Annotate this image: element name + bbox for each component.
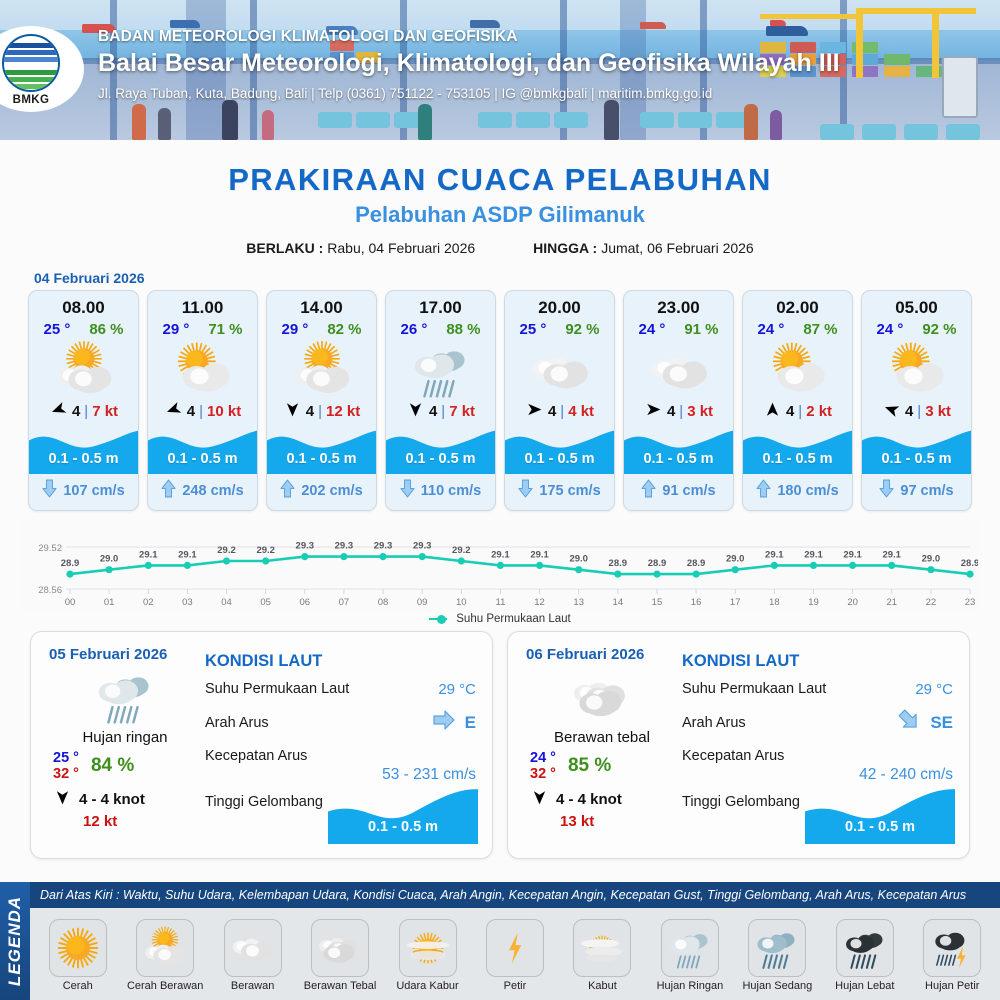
- card-current-speed: 97 cm/s: [900, 483, 953, 499]
- svg-text:28.9: 28.9: [648, 558, 667, 569]
- weather-cerah-berawan-single-icon: [148, 340, 257, 400]
- legend-item: Berawan Tebal: [296, 919, 383, 992]
- card-current: 180 cm/s: [743, 474, 852, 510]
- weather-kabut-icon: [573, 919, 631, 977]
- wind-direction-arrow-icon: [53, 790, 72, 809]
- svg-text:19: 19: [808, 597, 819, 608]
- weather-cerah-berawan-icon: [136, 919, 194, 977]
- svg-text:04: 04: [221, 597, 232, 608]
- page-subtitle: Pelabuhan ASDP Gilimanuk: [0, 202, 1000, 228]
- card-wind: 4 | 12 kt: [267, 400, 376, 426]
- card-wind-speed: 4: [72, 403, 80, 420]
- svg-text:17: 17: [730, 597, 741, 608]
- card-wind: 4 | 2 kt: [743, 400, 852, 426]
- sea-current-dir-value: SE: [895, 708, 953, 737]
- legend-item-label: Hujan Sedang: [742, 980, 812, 992]
- sea-current-dir-label: Arah Arus: [682, 715, 746, 731]
- legend-item: Cerah: [34, 919, 121, 992]
- legend-items-row: Cerah Cerah Berawan Berawan Berawan Teba…: [30, 908, 1000, 1000]
- weather-berawan-icon: [624, 340, 733, 400]
- panel-gust: 13 kt: [526, 813, 678, 830]
- wind-separator: |: [560, 403, 564, 420]
- weather-hujan-ringan-icon: [49, 665, 201, 727]
- legend-item: Hujan Lebat: [821, 919, 908, 992]
- card-wave: 0.1 - 0.5 m: [148, 426, 257, 474]
- legend-item-label: Cerah Berawan: [127, 980, 203, 992]
- svg-text:29.2: 29.2: [217, 545, 236, 556]
- wind-direction-arrow-icon: [763, 402, 782, 421]
- panel-wind-range: 4 - 4 knot: [79, 791, 145, 808]
- card-wave: 0.1 - 0.5 m: [386, 426, 495, 474]
- svg-text:13: 13: [573, 597, 584, 608]
- card-gust: 7 kt: [92, 403, 118, 420]
- sea-current-speed-value: 42 - 240 cm/s: [682, 766, 953, 784]
- card-values: 24 ° 87 %: [743, 320, 852, 340]
- sea-sst-row: Suhu Permukaan Laut 29 °C: [205, 679, 476, 699]
- valid-to-value: Jumat, 06 Februari 2026: [601, 240, 754, 256]
- wind-separator: |: [441, 403, 445, 420]
- hourly-card: 02.00 24 ° 87 % 4 | 2 kt 0.1 - 0.5 m 180…: [742, 290, 853, 511]
- card-values: 24 ° 91 %: [624, 320, 733, 340]
- card-time: 20.00: [505, 291, 614, 320]
- daily-forecast-panel: 06 Februari 2026 Berawan tebal 24 ° 32 °…: [507, 631, 970, 859]
- sea-sst-label: Suhu Permukaan Laut: [205, 681, 349, 697]
- svg-text:20: 20: [847, 597, 858, 608]
- banner-contact-line: Jl. Raya Tuban, Kuta, Badung, Bali | Tel…: [98, 86, 840, 101]
- sea-sst-row: Suhu Permukaan Laut 29 °C: [682, 679, 953, 699]
- card-wave-height: 0.1 - 0.5 m: [29, 451, 138, 467]
- sea-wave-graphic: 0.1 - 0.5 m: [805, 788, 955, 844]
- card-current: 107 cm/s: [29, 474, 138, 510]
- weather-hujan-ringan-icon: [661, 919, 719, 977]
- banner-office-name: Balai Besar Meteorologi, Klimatologi, da…: [98, 49, 840, 78]
- card-current: 91 cm/s: [624, 474, 733, 510]
- svg-text:22: 22: [926, 597, 937, 608]
- card-temperature: 25 °: [43, 321, 70, 338]
- panel-temps: 25 ° 32 ° 84 %: [49, 750, 201, 782]
- sea-current-dir-label: Arah Arus: [205, 715, 269, 731]
- hourly-card: 14.00 29 ° 82 % 4 | 12 kt 0.1 - 0.5 m 20…: [266, 290, 377, 511]
- card-current-speed: 248 cm/s: [182, 483, 243, 499]
- wind-separator: |: [84, 403, 88, 420]
- card-current: 248 cm/s: [148, 474, 257, 510]
- card-time: 02.00: [743, 291, 852, 320]
- legend-item-label: Hujan Petir: [925, 980, 979, 992]
- svg-text:29.1: 29.1: [765, 549, 784, 560]
- card-wave-height: 0.1 - 0.5 m: [386, 451, 495, 467]
- weather-hujan-petir-icon: [923, 919, 981, 977]
- card-time: 17.00: [386, 291, 495, 320]
- card-time: 08.00: [29, 291, 138, 320]
- card-time: 23.00: [624, 291, 733, 320]
- current-direction-arrow-icon: [518, 479, 533, 502]
- svg-text:28.9: 28.9: [609, 558, 628, 569]
- svg-text:12: 12: [534, 597, 545, 608]
- sea-sst-label: Suhu Permukaan Laut: [682, 681, 826, 697]
- validity-row: BERLAKU :Rabu, 04 Februari 2026 HINGGA :…: [0, 240, 1000, 256]
- page-title: PRAKIRAAN CUACA PELABUHAN: [0, 162, 1000, 198]
- weather-cerah-berawan-icon: [267, 340, 376, 400]
- card-humidity: 88 %: [446, 321, 480, 338]
- legend-line-icon: [429, 618, 447, 621]
- svg-text:09: 09: [417, 597, 428, 608]
- card-temperature: 24 °: [638, 321, 665, 338]
- svg-text:11: 11: [495, 597, 505, 608]
- panel-wind-range: 4 - 4 knot: [556, 791, 622, 808]
- legend-item: Hujan Ringan: [646, 919, 733, 992]
- card-current-speed: 110 cm/s: [421, 483, 481, 499]
- svg-text:29.0: 29.0: [922, 554, 941, 565]
- panel-temp-min: 25 °: [53, 750, 79, 766]
- legend-item-label: Hujan Lebat: [835, 980, 894, 992]
- card-humidity: 91 %: [684, 321, 718, 338]
- wind-separator: |: [199, 403, 203, 420]
- banner-org-line: BADAN METEOROLOGI KLIMATOLOGI DAN GEOFIS…: [98, 28, 840, 46]
- weather-berawan-icon: [505, 340, 614, 400]
- svg-text:00: 00: [65, 597, 76, 608]
- legend-note: Dari Atas Kiri : Waktu, Suhu Udara, Kele…: [30, 882, 1000, 908]
- sea-current-speed-row: Kecepatan Arus: [205, 746, 476, 766]
- svg-text:07: 07: [339, 597, 350, 608]
- svg-text:23: 23: [965, 597, 976, 608]
- svg-text:29.1: 29.1: [178, 549, 197, 560]
- svg-text:21: 21: [886, 597, 897, 608]
- weather-berawan-tebal-icon: [311, 919, 369, 977]
- legend-item-label: Hujan Ringan: [657, 980, 724, 992]
- wind-direction-arrow-icon: [882, 402, 901, 421]
- svg-text:05: 05: [260, 597, 271, 608]
- panel-temps: 24 ° 32 ° 85 %: [526, 750, 678, 782]
- svg-text:16: 16: [691, 597, 702, 608]
- legend-item-label: Cerah: [63, 980, 93, 992]
- panel-wind: 4 - 4 knot: [526, 790, 678, 809]
- card-current: 202 cm/s: [267, 474, 376, 510]
- card-current: 110 cm/s: [386, 474, 495, 510]
- svg-text:29.1: 29.1: [804, 549, 823, 560]
- legend-label: Suhu Permukaan Laut: [456, 613, 570, 625]
- card-wind-speed: 4: [429, 403, 437, 420]
- legend-item: Kabut: [559, 919, 646, 992]
- card-humidity: 92 %: [565, 321, 599, 338]
- svg-text:29.0: 29.0: [726, 554, 745, 565]
- card-wind-speed: 4: [187, 403, 195, 420]
- card-wave: 0.1 - 0.5 m: [862, 426, 971, 474]
- card-wind-speed: 4: [786, 403, 794, 420]
- card-wave: 0.1 - 0.5 m: [29, 426, 138, 474]
- weather-cerah-berawan-single-icon: [862, 340, 971, 400]
- svg-text:29.1: 29.1: [491, 549, 510, 560]
- svg-text:29.2: 29.2: [256, 545, 275, 556]
- daily-forecast-row: 05 Februari 2026 Hujan ringan 25 ° 32 ° …: [0, 625, 1000, 859]
- legend-item: Cerah Berawan: [121, 919, 208, 992]
- weather-hujan-sedang-icon: [748, 919, 806, 977]
- weather-cerah-icon: [49, 919, 107, 977]
- wind-direction-arrow-icon: [530, 790, 549, 809]
- panel-wind: 4 - 4 knot: [49, 790, 201, 809]
- card-values: 24 ° 92 %: [862, 320, 971, 340]
- svg-text:29.52: 29.52: [38, 543, 62, 554]
- hourly-card: 20.00 25 ° 92 % 4 | 4 kt 0.1 - 0.5 m 175…: [504, 290, 615, 511]
- svg-text:29.3: 29.3: [413, 541, 432, 552]
- svg-text:14: 14: [613, 597, 624, 608]
- card-humidity: 87 %: [803, 321, 837, 338]
- current-direction-arrow-icon: [756, 479, 771, 502]
- svg-text:28.9: 28.9: [961, 558, 978, 569]
- card-values: 29 ° 71 %: [148, 320, 257, 340]
- weather-petir-icon: [486, 919, 544, 977]
- card-wind: 4 | 10 kt: [148, 400, 257, 426]
- card-wave-height: 0.1 - 0.5 m: [148, 451, 257, 467]
- card-time: 14.00: [267, 291, 376, 320]
- legend-item: Petir: [471, 919, 558, 992]
- panel-gust: 12 kt: [49, 813, 201, 830]
- card-gust: 4 kt: [568, 403, 594, 420]
- svg-text:15: 15: [652, 597, 663, 608]
- card-values: 29 ° 82 %: [267, 320, 376, 340]
- hourly-card: 23.00 24 ° 91 % 4 | 3 kt 0.1 - 0.5 m 91 …: [623, 290, 734, 511]
- sea-condition-title: KONDISI LAUT: [205, 652, 476, 671]
- card-humidity: 82 %: [327, 321, 361, 338]
- card-values: 26 ° 88 %: [386, 320, 495, 340]
- weather-hujan-ringan-icon: [386, 340, 495, 400]
- svg-text:29.1: 29.1: [843, 549, 862, 560]
- sea-current-dir-value: E: [430, 708, 476, 737]
- card-values: 25 ° 92 %: [505, 320, 614, 340]
- current-direction-arrow-icon: [430, 708, 458, 737]
- sst-chart-svg: 29.5228.56000102030405060708091011121314…: [22, 521, 978, 611]
- current-direction-arrow-icon: [42, 479, 57, 502]
- wind-direction-arrow-icon: [406, 402, 425, 421]
- svg-text:29.3: 29.3: [335, 541, 354, 552]
- card-wind: 4 | 7 kt: [29, 400, 138, 426]
- sea-condition-title: KONDISI LAUT: [682, 652, 953, 671]
- card-wind-speed: 4: [306, 403, 314, 420]
- legend-side-label: LEGENDA: [5, 896, 25, 986]
- current-direction-arrow-icon: [280, 479, 295, 502]
- card-current-speed: 107 cm/s: [63, 483, 124, 499]
- panel-date: 05 Februari 2026: [49, 646, 201, 663]
- card-values: 25 ° 86 %: [29, 320, 138, 340]
- valid-to: HINGGA :Jumat, 06 Februari 2026: [533, 240, 754, 256]
- sst-chart: 29.5228.56000102030405060708091011121314…: [22, 521, 978, 611]
- sea-current-speed-label: Kecepatan Arus: [682, 748, 784, 764]
- svg-text:29.3: 29.3: [296, 541, 315, 552]
- sea-sst-value: 29 °C: [915, 681, 953, 698]
- card-gust: 10 kt: [207, 403, 241, 420]
- svg-text:29.0: 29.0: [100, 554, 119, 565]
- card-gust: 12 kt: [326, 403, 360, 420]
- card-gust: 3 kt: [925, 403, 951, 420]
- card-current: 175 cm/s: [505, 474, 614, 510]
- sea-wave-label: Tinggi Gelombang: [682, 794, 800, 810]
- svg-text:29.1: 29.1: [882, 549, 901, 560]
- card-current-speed: 91 cm/s: [662, 483, 715, 499]
- bmkg-logo-text: BMKG: [0, 94, 62, 106]
- legend-strip: LEGENDA Dari Atas Kiri : Waktu, Suhu Uda…: [0, 882, 1000, 1000]
- weather-cerah-berawan-single-icon: [743, 340, 852, 400]
- legend-item: Hujan Petir: [909, 919, 996, 992]
- card-wind-speed: 4: [905, 403, 913, 420]
- card-wind: 4 | 3 kt: [862, 400, 971, 426]
- svg-text:29.1: 29.1: [530, 549, 549, 560]
- svg-text:29.0: 29.0: [569, 554, 588, 565]
- wind-separator: |: [917, 403, 921, 420]
- sea-wave-graphic: 0.1 - 0.5 m: [328, 788, 478, 844]
- card-wave-height: 0.1 - 0.5 m: [624, 451, 733, 467]
- header-banner: BMKG BADAN METEOROLOGI KLIMATOLOGI DAN G…: [0, 0, 1000, 140]
- card-humidity: 71 %: [208, 321, 242, 338]
- wind-separator: |: [318, 403, 322, 420]
- sea-current-speed-row: Kecepatan Arus: [682, 746, 953, 766]
- hourly-card: 08.00 25 ° 86 % 4 | 7 kt 0.1 - 0.5 m 107…: [28, 290, 139, 511]
- card-current-speed: 180 cm/s: [777, 483, 838, 499]
- card-temperature: 29 °: [162, 321, 189, 338]
- card-time: 11.00: [148, 291, 257, 320]
- hourly-card: 17.00 26 ° 88 % 4 | 7 kt 0.1 - 0.5 m 110…: [385, 290, 496, 511]
- legend-item-label: Udara Kabur: [396, 980, 458, 992]
- hourly-forecast-row: 08.00 25 ° 86 % 4 | 7 kt 0.1 - 0.5 m 107…: [0, 290, 1000, 511]
- valid-from-value: Rabu, 04 Februari 2026: [327, 240, 475, 256]
- card-wave: 0.1 - 0.5 m: [624, 426, 733, 474]
- current-direction-arrow-icon: [400, 479, 415, 502]
- panel-temp-max: 32 °: [530, 766, 556, 782]
- legend-item: Udara Kabur: [384, 919, 471, 992]
- bmkg-logo-mark: [2, 34, 60, 92]
- card-wind-speed: 4: [667, 403, 675, 420]
- card-gust: 2 kt: [806, 403, 832, 420]
- svg-text:29.1: 29.1: [139, 549, 158, 560]
- card-current-speed: 202 cm/s: [301, 483, 362, 499]
- legend-item: Hujan Sedang: [734, 919, 821, 992]
- sea-current-speed-label: Kecepatan Arus: [205, 748, 307, 764]
- weather-cerah-berawan-icon: [29, 340, 138, 400]
- current-direction-arrow-icon: [641, 479, 656, 502]
- panel-humidity: 84 %: [91, 755, 134, 777]
- card-wave: 0.1 - 0.5 m: [267, 426, 376, 474]
- svg-text:28.9: 28.9: [687, 558, 706, 569]
- panel-temp-min: 24 °: [530, 750, 556, 766]
- card-time: 05.00: [862, 291, 971, 320]
- panel-temp-max: 32 °: [53, 766, 79, 782]
- card-temperature: 25 °: [519, 321, 546, 338]
- hourly-date-label: 04 Februari 2026: [34, 270, 1000, 286]
- wind-separator: |: [798, 403, 802, 420]
- card-wave: 0.1 - 0.5 m: [743, 426, 852, 474]
- card-temperature: 29 °: [281, 321, 308, 338]
- svg-text:03: 03: [182, 597, 193, 608]
- sea-wave-label: Tinggi Gelombang: [205, 794, 323, 810]
- sea-current-dir-row: Arah Arus SE: [682, 708, 953, 737]
- daily-forecast-panel: 05 Februari 2026 Hujan ringan 25 ° 32 ° …: [30, 631, 493, 859]
- svg-text:28.9: 28.9: [61, 558, 80, 569]
- card-wave: 0.1 - 0.5 m: [505, 426, 614, 474]
- svg-text:28.56: 28.56: [38, 585, 62, 596]
- current-direction-arrow-icon: [161, 479, 176, 502]
- wind-separator: |: [679, 403, 683, 420]
- card-wind: 4 | 7 kt: [386, 400, 495, 426]
- legend-item-label: Petir: [504, 980, 527, 992]
- svg-text:02: 02: [143, 597, 154, 608]
- wind-direction-arrow-icon: [644, 402, 663, 421]
- valid-from: BERLAKU :Rabu, 04 Februari 2026: [246, 240, 475, 256]
- weather-hujan-lebat-icon: [836, 919, 894, 977]
- card-current: 97 cm/s: [862, 474, 971, 510]
- sea-current-speed-value: 53 - 231 cm/s: [205, 766, 476, 784]
- legend-item-label: Berawan: [231, 980, 274, 992]
- sea-wave-value: 0.1 - 0.5 m: [328, 819, 478, 835]
- weather-berawan-icon: [224, 919, 282, 977]
- sea-sst-value: 29 °C: [438, 681, 476, 698]
- panel-date: 06 Februari 2026: [526, 646, 678, 663]
- svg-text:08: 08: [378, 597, 389, 608]
- legend-item: Berawan: [209, 919, 296, 992]
- sst-chart-legend: Suhu Permukaan Laut: [0, 613, 1000, 625]
- card-wave-height: 0.1 - 0.5 m: [862, 451, 971, 467]
- card-wave-height: 0.1 - 0.5 m: [267, 451, 376, 467]
- card-temperature: 24 °: [876, 321, 903, 338]
- card-temperature: 26 °: [400, 321, 427, 338]
- legend-item-label: Kabut: [588, 980, 617, 992]
- valid-to-label: HINGGA :: [533, 240, 597, 256]
- panel-condition: Hujan ringan: [49, 729, 201, 746]
- legend-item-label: Berawan Tebal: [304, 980, 377, 992]
- legend-side-bar: LEGENDA: [0, 882, 30, 1000]
- weather-berawan-tebal-icon: [526, 665, 678, 727]
- wind-direction-arrow-icon: [164, 402, 183, 421]
- svg-text:29.3: 29.3: [374, 541, 393, 552]
- panel-humidity: 85 %: [568, 755, 611, 777]
- wind-direction-arrow-icon: [49, 402, 68, 421]
- svg-text:18: 18: [769, 597, 780, 608]
- current-direction-arrow-icon: [895, 708, 923, 737]
- svg-text:10: 10: [456, 597, 467, 608]
- sea-wave-value: 0.1 - 0.5 m: [805, 819, 955, 835]
- svg-text:06: 06: [299, 597, 310, 608]
- card-current-speed: 175 cm/s: [539, 483, 600, 499]
- weather-udara-kabur-icon: [399, 919, 457, 977]
- svg-text:29.2: 29.2: [452, 545, 471, 556]
- wind-direction-arrow-icon: [283, 402, 302, 421]
- card-wave-height: 0.1 - 0.5 m: [505, 451, 614, 467]
- card-humidity: 92 %: [922, 321, 956, 338]
- wind-direction-arrow-icon: [525, 402, 544, 421]
- current-direction-arrow-icon: [879, 479, 894, 502]
- valid-from-label: BERLAKU :: [246, 240, 323, 256]
- svg-text:01: 01: [104, 597, 115, 608]
- card-wind: 4 | 4 kt: [505, 400, 614, 426]
- card-wind-speed: 4: [548, 403, 556, 420]
- card-wave-height: 0.1 - 0.5 m: [743, 451, 852, 467]
- card-gust: 7 kt: [449, 403, 475, 420]
- card-wind: 4 | 3 kt: [624, 400, 733, 426]
- panel-condition: Berawan tebal: [526, 729, 678, 746]
- hourly-card: 11.00 29 ° 71 % 4 | 10 kt 0.1 - 0.5 m 24…: [147, 290, 258, 511]
- sea-current-dir-row: Arah Arus E: [205, 708, 476, 737]
- card-temperature: 24 °: [757, 321, 784, 338]
- card-gust: 3 kt: [687, 403, 713, 420]
- card-humidity: 86 %: [89, 321, 123, 338]
- hourly-card: 05.00 24 ° 92 % 4 | 3 kt 0.1 - 0.5 m 97 …: [861, 290, 972, 511]
